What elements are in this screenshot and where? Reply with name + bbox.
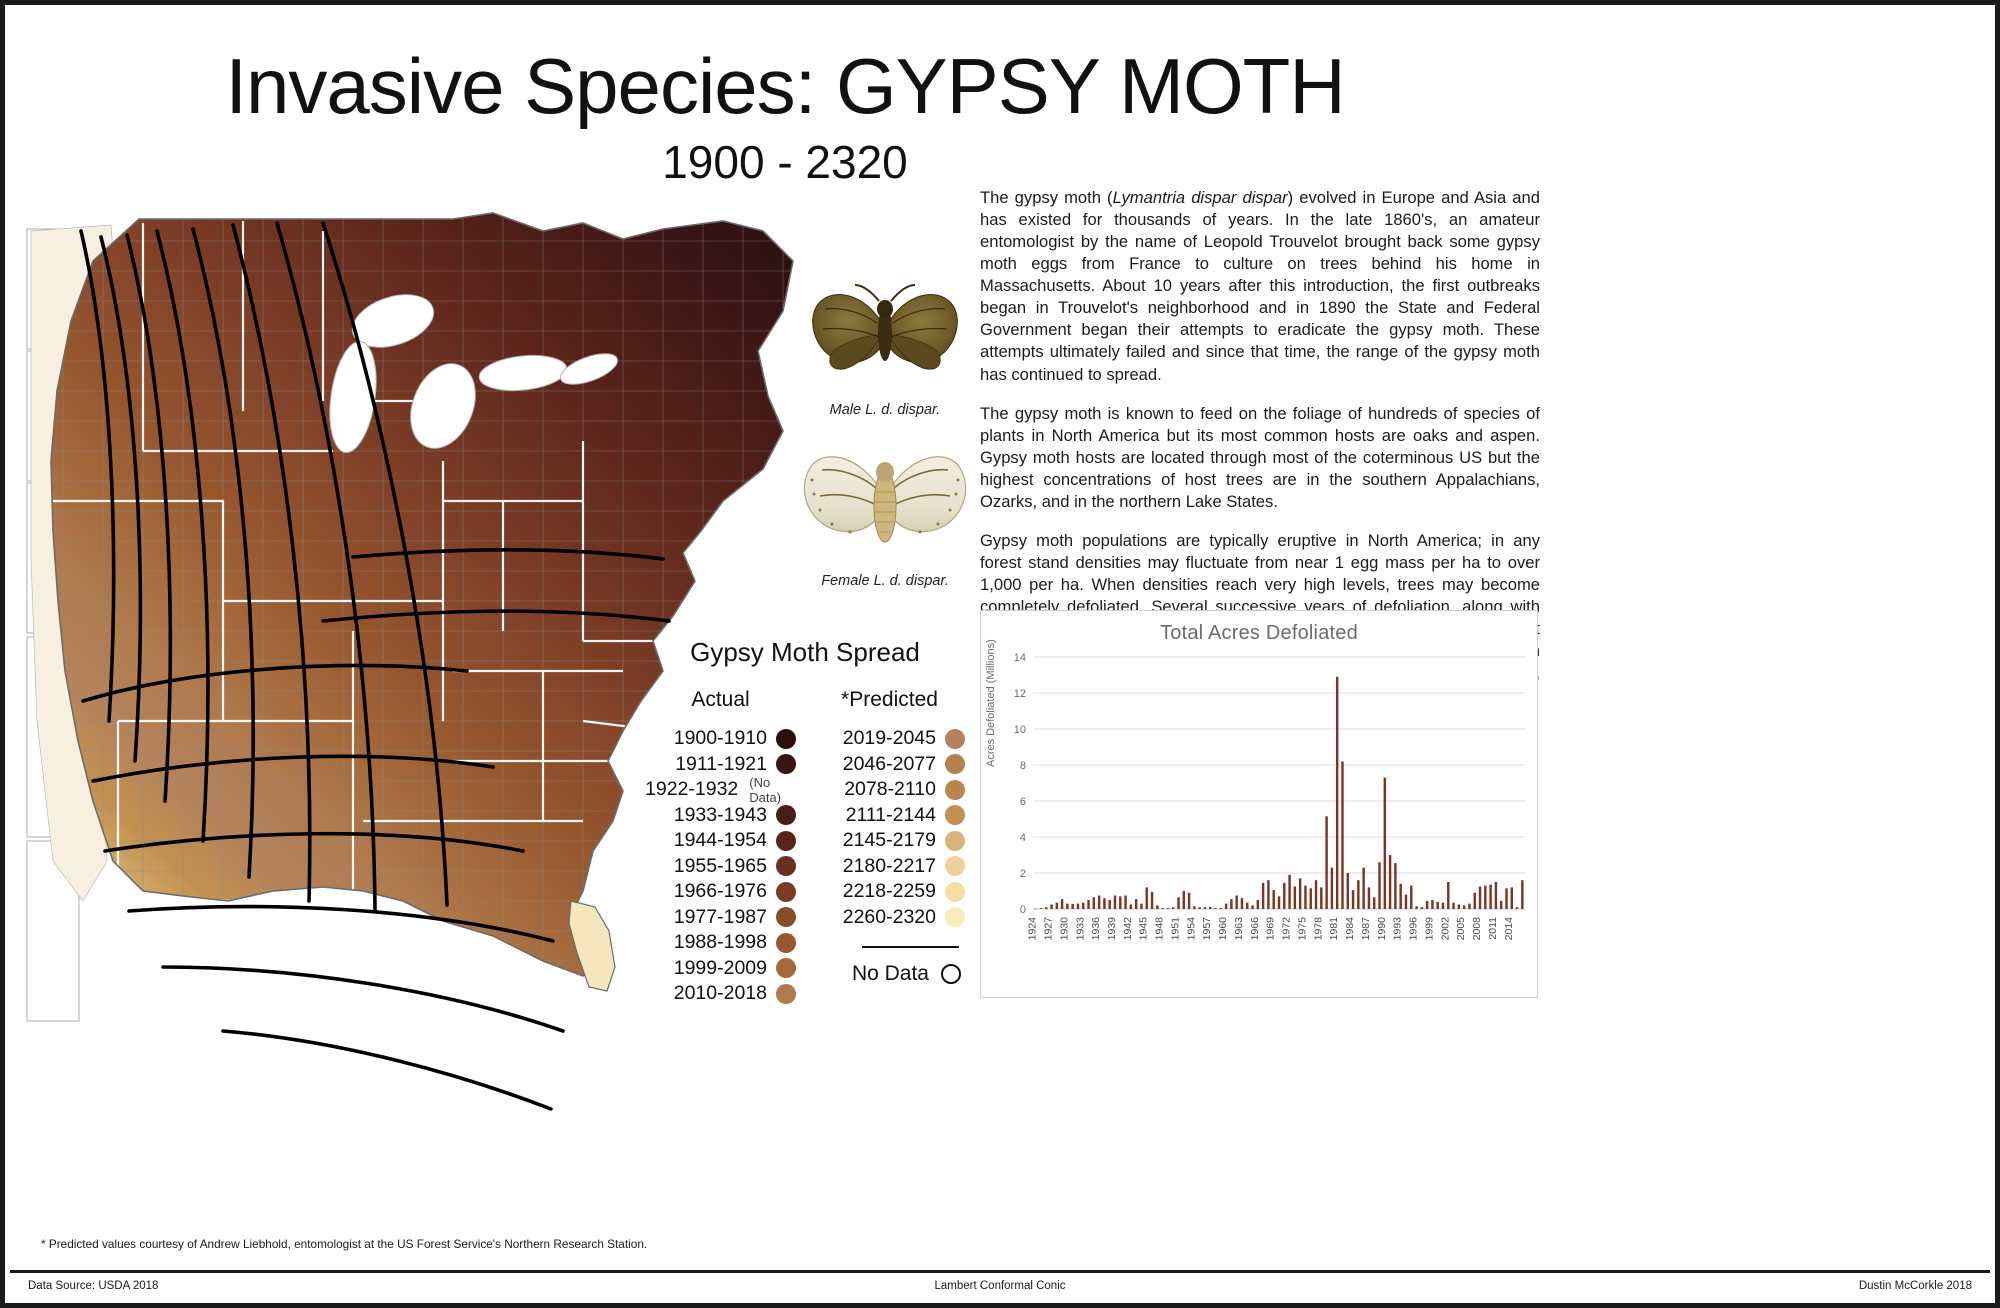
chart-bar[interactable] — [1124, 896, 1126, 910]
chart-x-tick: 1963 — [1233, 917, 1245, 941]
legend-predicted-label: 2218-2259 — [843, 880, 936, 903]
scientific-name: Lymantria dispar dispar — [1113, 188, 1288, 207]
legend-header-actual: Actual — [645, 688, 796, 712]
legend-actual-label: 1977-1987 — [674, 906, 767, 929]
chart-bar[interactable] — [1077, 904, 1079, 909]
chart-bar[interactable] — [1431, 900, 1433, 909]
chart-bar[interactable] — [1288, 875, 1290, 909]
chart-bar[interactable] — [1357, 880, 1359, 909]
chart-bar[interactable] — [1299, 878, 1301, 909]
paragraph-1-part-b: ) evolved in Europe and Asia and has exi… — [980, 188, 1540, 384]
page-subtitle: 1900 - 2320 — [5, 139, 1565, 185]
chart-bar[interactable] — [1257, 900, 1259, 909]
chart-bar[interactable] — [1511, 887, 1513, 909]
chart-bar[interactable] — [1442, 903, 1444, 909]
chart-x-tick: 1987 — [1360, 917, 1372, 941]
chart-svg[interactable]: 0246810121419241927193019331936193919421… — [999, 649, 1535, 995]
chart-bar[interactable] — [1410, 886, 1412, 909]
legend-predicted-item[interactable]: 2260-2320 — [814, 905, 965, 931]
legend-predicted-item[interactable]: 2019-2045 — [814, 726, 965, 752]
chart-bar[interactable] — [1103, 898, 1105, 909]
female-moth-figure: Female L. d. dispar. — [795, 440, 975, 589]
chart-x-tick: 1936 — [1090, 917, 1102, 941]
chart-bar[interactable] — [1108, 900, 1110, 909]
title-block: Invasive Species: GYPSY MOTH 1900 - 2320 — [5, 47, 1565, 185]
chart-bar[interactable] — [1198, 907, 1200, 909]
legend-actual-item[interactable]: 1911-1921 — [645, 752, 796, 778]
legend-predicted-swatch-icon — [945, 882, 965, 902]
chart-bar[interactable] — [1362, 868, 1364, 909]
legend-actual-swatch-icon — [776, 805, 796, 825]
chart-bar[interactable] — [1304, 886, 1306, 909]
chart-x-tick: 1945 — [1138, 917, 1150, 941]
chart-x-tick: 1993 — [1392, 917, 1404, 941]
legend-actual-item[interactable]: 1944-1954 — [645, 828, 796, 854]
legend-predicted-item[interactable]: 2111-2144 — [814, 803, 965, 829]
chart-y-tick: 10 — [1014, 724, 1026, 736]
chart-bar[interactable] — [1230, 899, 1232, 909]
florida — [569, 901, 615, 991]
chart-bar[interactable] — [1172, 907, 1174, 909]
chart-plot-wrap: Acres Defoliated (Millions) 024681012141… — [981, 649, 1533, 997]
legend-actual-label: 1955-1965 — [674, 855, 767, 878]
chart-bar[interactable] — [1468, 904, 1470, 909]
chart-bar[interactable] — [1415, 906, 1417, 909]
legend-actual-label: 1944-1954 — [674, 829, 767, 852]
chart-bar[interactable] — [1082, 903, 1084, 909]
chart-x-tick: 1927 — [1043, 917, 1055, 941]
legend-predicted-rows: 2019-20452046-20772078-21102111-21442145… — [814, 726, 965, 930]
chart-x-tick: 1969 — [1265, 917, 1277, 941]
chart-bar[interactable] — [1426, 901, 1428, 909]
legend-predicted-label: 2260-2320 — [843, 906, 936, 929]
chart-x-tick: 1990 — [1376, 917, 1388, 941]
legend-predicted-label: 2046-2077 — [843, 753, 936, 776]
chart-bar[interactable] — [1034, 909, 1036, 910]
chart-x-tick: 1972 — [1281, 917, 1293, 941]
chart-bar[interactable] — [1119, 896, 1121, 909]
chart-bar[interactable] — [1384, 778, 1386, 909]
chart-bar[interactable] — [1262, 883, 1264, 909]
chart-x-tick: 1948 — [1154, 917, 1166, 941]
chart-x-tick: 2008 — [1471, 917, 1483, 941]
chart-y-tick: 12 — [1014, 688, 1026, 700]
legend-predicted-swatch-icon — [945, 856, 965, 876]
chart-y-tick: 14 — [1014, 652, 1026, 664]
legend-column-actual: Actual 1900-19101911-19211922-1932(No Da… — [645, 688, 796, 1007]
chart-x-tick: 1981 — [1328, 917, 1340, 941]
paragraph-1-part-a: The gypsy moth ( — [980, 188, 1113, 207]
legend-actual-swatch-icon — [776, 831, 796, 851]
chart-bar[interactable] — [1283, 883, 1285, 909]
no-data-swatch-icon — [941, 964, 961, 984]
legend-predicted-item[interactable]: 2145-2179 — [814, 828, 965, 854]
chart-bar[interactable] — [1050, 905, 1052, 910]
legend-actual-item[interactable]: 1966-1976 — [645, 879, 796, 905]
chart-bar[interactable] — [1066, 904, 1068, 909]
bottom-credit-bar: Data Source: USDA 2018 Lambert Conformal… — [10, 1270, 1990, 1298]
legend-actual-swatch-icon — [776, 984, 796, 1004]
chart-bar[interactable] — [1341, 761, 1343, 909]
chart-bar[interactable] — [1188, 893, 1190, 909]
chart-bar[interactable] — [1378, 862, 1380, 909]
legend-actual-label: 2010-2018 — [674, 982, 767, 1005]
legend-predicted-item[interactable]: 2218-2259 — [814, 879, 965, 905]
chart-bar[interactable] — [1135, 899, 1137, 909]
chart-bar[interactable] — [1220, 908, 1222, 909]
chart-x-tick: 1951 — [1169, 917, 1181, 941]
chart-bar[interactable] — [1521, 880, 1523, 909]
chart-x-tick: 1975 — [1296, 917, 1308, 941]
moth-photo-panel: Male L. d. dispar. — [795, 277, 975, 611]
chart-x-tick: 2002 — [1439, 917, 1451, 941]
chart-bar[interactable] — [1347, 873, 1349, 909]
chart-bar[interactable] — [1167, 908, 1169, 909]
legend-predicted-swatch-icon — [945, 780, 965, 800]
legend-actual-swatch-icon — [776, 933, 796, 953]
chart-bar[interactable] — [1225, 904, 1227, 909]
chart-y-tick: 2 — [1020, 868, 1026, 880]
chart-x-tick: 1999 — [1423, 917, 1435, 941]
chart-bar[interactable] — [1045, 907, 1047, 909]
chart-bar[interactable] — [1209, 907, 1211, 909]
chart-bar[interactable] — [1368, 887, 1370, 909]
legend-actual-swatch-icon — [776, 907, 796, 927]
female-moth-image — [800, 440, 970, 560]
legend-actual-label: 1999-2009 — [674, 957, 767, 980]
legend-predicted-label: 2111-2144 — [846, 804, 936, 827]
chart-bar[interactable] — [1495, 882, 1497, 909]
chart-x-tick: 2014 — [1503, 917, 1515, 941]
predicted-footnote: * Predicted values courtesy of Andrew Li… — [41, 1237, 741, 1251]
female-moth-caption: Female L. d. dispar. — [795, 573, 975, 589]
chart-bar[interactable] — [1241, 898, 1243, 909]
legend-no-data-row: No Data — [814, 962, 965, 986]
chart-x-tick: 1960 — [1217, 917, 1229, 941]
legend-actual-label: 1966-1976 — [674, 880, 767, 903]
legend-predicted-item[interactable]: 2078-2110 — [814, 777, 965, 803]
chart-x-tick: 1966 — [1249, 917, 1261, 941]
male-moth-caption: Male L. d. dispar. — [795, 402, 975, 418]
legend-actual-label: 1922-1932 — [645, 778, 738, 801]
legend-actual-swatch-icon — [776, 729, 796, 749]
chart-bar[interactable] — [1320, 887, 1322, 909]
chart-bar[interactable] — [1093, 897, 1095, 909]
chart-x-tick: 1933 — [1074, 917, 1086, 941]
chart-bar[interactable] — [1098, 896, 1100, 910]
legend-predicted-item[interactable]: 2180-2217 — [814, 854, 965, 880]
chart-y-tick: 4 — [1020, 832, 1026, 844]
legend-predicted-label: 2145-2179 — [843, 829, 936, 852]
chart-bar[interactable] — [1146, 887, 1148, 909]
chart-x-tick: 1984 — [1344, 917, 1356, 941]
chart-bar[interactable] — [1516, 907, 1518, 909]
chart-bar[interactable] — [1505, 888, 1507, 909]
poster-root: Invasive Species: GYPSY MOTH 1900 - 2320 — [0, 0, 2000, 1308]
chart-bar[interactable] — [1204, 907, 1206, 909]
male-moth-figure: Male L. d. dispar. — [795, 277, 975, 418]
chart-bar[interactable] — [1489, 885, 1491, 909]
chart-bar[interactable] — [1474, 893, 1476, 909]
legend-predicted-swatch-icon — [945, 754, 965, 774]
chart-y-tick: 8 — [1020, 760, 1026, 772]
chart-x-tick: 1924 — [1027, 917, 1039, 941]
projection-label: Lambert Conformal Conic — [10, 1280, 1990, 1292]
legend-actual-item[interactable]: 1988-1998 — [645, 930, 796, 956]
legend-actual-item[interactable]: 1922-1932(No Data) — [645, 777, 796, 803]
chart-bar[interactable] — [1352, 890, 1354, 909]
author-label: Dustin McCorkle 2018 — [1859, 1280, 1972, 1292]
chart-bar[interactable] — [1251, 905, 1253, 909]
legend-actual-label: 1988-1998 — [674, 931, 767, 954]
chart-bar[interactable] — [1336, 677, 1338, 909]
legend-divider — [862, 946, 959, 948]
chart-x-tick: 1954 — [1185, 917, 1197, 941]
chart-bar[interactable] — [1399, 884, 1401, 909]
chart-bar[interactable] — [1405, 895, 1407, 909]
legend-header-predicted: *Predicted — [814, 688, 965, 712]
paragraph-1: The gypsy moth (Lymantria dispar dispar)… — [980, 187, 1540, 386]
chart-y-tick: 6 — [1020, 796, 1026, 808]
legend-actual-item[interactable]: 1933-1943 — [645, 803, 796, 829]
chart-bar[interactable] — [1310, 888, 1312, 909]
legend-predicted-label: 2019-2045 — [843, 727, 936, 750]
legend-predicted-swatch-icon — [945, 907, 965, 927]
legend-actual-label: 1911-1921 — [675, 753, 767, 776]
legend-actual-label: 1900-1910 — [674, 727, 767, 750]
legend-columns: Actual 1900-19101911-19211922-1932(No Da… — [645, 688, 965, 1007]
chart-bar[interactable] — [1056, 903, 1058, 909]
chart-x-tick: 1957 — [1201, 917, 1213, 941]
chart-bar[interactable] — [1114, 896, 1116, 910]
legend-actual-swatch-icon — [776, 882, 796, 902]
chart-bar[interactable] — [1479, 887, 1481, 910]
chart-bar[interactable] — [1500, 901, 1502, 909]
chart-bar[interactable] — [1325, 816, 1327, 909]
chart-bar[interactable] — [1183, 891, 1185, 909]
legend-actual-item[interactable]: 1955-1965 — [645, 854, 796, 880]
map-legend: Gypsy Moth Spread Actual 1900-19101911-1… — [645, 637, 965, 1007]
legend-actual-item[interactable]: 1900-1910 — [645, 726, 796, 752]
chart-x-tick: 2011 — [1487, 917, 1499, 940]
chart-bar[interactable] — [1458, 905, 1460, 910]
legend-actual-swatch-icon — [776, 856, 796, 876]
legend-predicted-item[interactable]: 2046-2077 — [814, 752, 965, 778]
legend-column-predicted: *Predicted 2019-20452046-20772078-211021… — [814, 688, 965, 1007]
legend-actual-item[interactable]: 1999-2009 — [645, 956, 796, 982]
chart-bar[interactable] — [1294, 887, 1296, 910]
chart-bar[interactable] — [1156, 905, 1158, 909]
chart-bar[interactable] — [1235, 896, 1237, 910]
chart-bar[interactable] — [1267, 880, 1269, 909]
chart-bar[interactable] — [1421, 907, 1423, 909]
legend-actual-note: (No Data) — [749, 775, 796, 805]
legend-predicted-label: 2180-2217 — [843, 855, 936, 878]
male-moth-image — [805, 277, 965, 389]
chart-bar[interactable] — [1246, 903, 1248, 909]
chart-bar[interactable] — [1436, 902, 1438, 909]
chart-bar[interactable] — [1463, 905, 1465, 909]
chart-bar[interactable] — [1447, 882, 1449, 909]
legend-no-data-label: No Data — [852, 962, 929, 986]
legend-actual-item[interactable]: 1977-1987 — [645, 905, 796, 931]
paragraph-2: The gypsy moth is known to feed on the f… — [980, 403, 1540, 513]
legend-actual-label: 1933-1943 — [674, 804, 767, 827]
chart-bar[interactable] — [1130, 905, 1132, 910]
chart-x-tick: 1942 — [1122, 917, 1134, 941]
legend-predicted-swatch-icon — [945, 831, 965, 851]
chart-bar[interactable] — [1214, 908, 1216, 909]
chart-x-tick: 1930 — [1058, 917, 1070, 941]
chart-bar[interactable] — [1278, 896, 1280, 909]
chart-bar[interactable] — [1140, 904, 1142, 909]
legend-actual-item[interactable]: 2010-2018 — [645, 981, 796, 1007]
chart-bar[interactable] — [1394, 863, 1396, 909]
chart-bar[interactable] — [1193, 906, 1195, 909]
chart-bar[interactable] — [1040, 908, 1042, 909]
chart-bar[interactable] — [1177, 897, 1179, 909]
chart-bar[interactable] — [1452, 903, 1454, 909]
chart-bar[interactable] — [1061, 899, 1063, 909]
chart-y-tick: 0 — [1020, 904, 1026, 916]
chart-bar[interactable] — [1087, 900, 1089, 909]
chart-bar[interactable] — [1484, 886, 1486, 909]
chart-bar[interactable] — [1071, 904, 1073, 909]
chart-bar[interactable] — [1373, 897, 1375, 909]
legend-title: Gypsy Moth Spread — [645, 637, 965, 668]
chart-x-tick: 1978 — [1312, 917, 1324, 941]
legend-actual-rows: 1900-19101911-19211922-1932(No Data)1933… — [645, 726, 796, 1007]
chart-y-axis-title: Acres Defoliated (Millions) — [985, 639, 997, 767]
defoliation-chart-panel[interactable]: Total Acres Defoliated Acres Defoliated … — [980, 610, 1538, 998]
legend-predicted-swatch-icon — [945, 805, 965, 825]
chart-x-tick: 1939 — [1106, 917, 1118, 941]
chart-bar[interactable] — [1151, 892, 1153, 909]
chart-bar[interactable] — [1161, 908, 1163, 909]
chart-title: Total Acres Defoliated — [981, 611, 1537, 645]
chart-bar[interactable] — [1389, 855, 1391, 909]
legend-actual-swatch-icon — [776, 958, 796, 978]
legend-predicted-label: 2078-2110 — [844, 778, 936, 801]
legend-predicted-swatch-icon — [945, 729, 965, 749]
chart-x-tick: 1996 — [1408, 917, 1420, 941]
chart-bar[interactable] — [1331, 868, 1333, 909]
chart-bar[interactable] — [1315, 880, 1317, 909]
legend-actual-swatch-icon — [776, 754, 796, 774]
page-title: Invasive Species: GYPSY MOTH — [5, 47, 1565, 125]
chart-x-tick: 2005 — [1455, 917, 1467, 941]
chart-bar[interactable] — [1272, 890, 1274, 909]
